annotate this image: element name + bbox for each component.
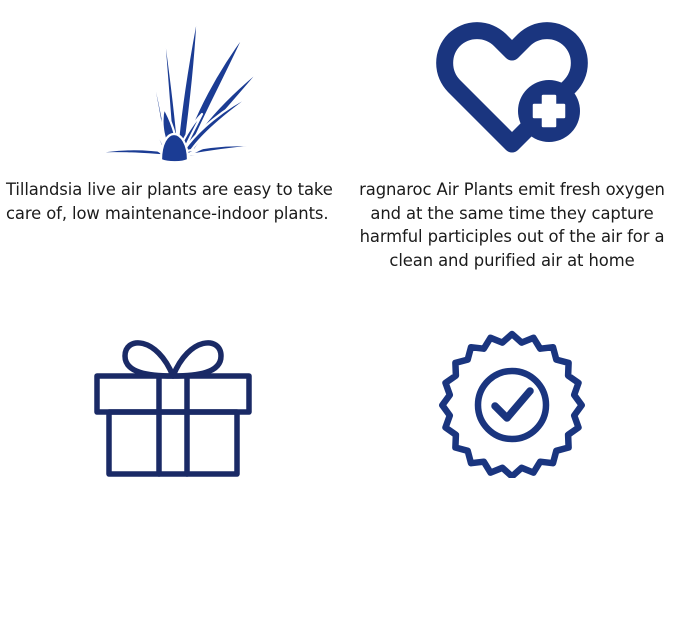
badge-rosette bbox=[442, 334, 581, 476]
heart-plus-icon-area bbox=[345, 0, 679, 176]
gift-lid bbox=[97, 376, 249, 412]
feature-grid: Tillandsia live air plants are easy to t… bbox=[0, 0, 679, 617]
air-plant-icon bbox=[78, 2, 268, 167]
gift-body bbox=[109, 412, 237, 474]
guarantee-badge-icon-area bbox=[345, 310, 679, 490]
guarantee-badge-icon bbox=[437, 328, 587, 478]
feature-cell-fresh-oxygen: ragnaroc Air Plants emit fresh oxygen an… bbox=[345, 0, 679, 310]
feature-cell-giftable-packaging: All ragnaroc Air Plants come in giftable… bbox=[0, 310, 345, 617]
gift-box-icon-area bbox=[0, 310, 345, 490]
bow-loop-left bbox=[125, 343, 173, 376]
heart-plus-icon bbox=[432, 12, 592, 158]
air-plant-icon-area bbox=[0, 0, 345, 176]
bow-loop-right bbox=[173, 343, 221, 376]
feature-caption-easy-care: Tillandsia live air plants are easy to t… bbox=[0, 178, 345, 225]
feature-cell-live-arrival-guarantee: Each order is covered by a 100% live arr… bbox=[345, 310, 679, 617]
check-icon bbox=[495, 391, 530, 418]
gift-box-icon bbox=[87, 328, 259, 480]
feature-caption-fresh-oxygen: ragnaroc Air Plants emit fresh oxygen an… bbox=[345, 178, 679, 272]
feature-cell-easy-care: Tillandsia live air plants are easy to t… bbox=[0, 0, 345, 310]
badge-inner-circle bbox=[478, 371, 546, 439]
